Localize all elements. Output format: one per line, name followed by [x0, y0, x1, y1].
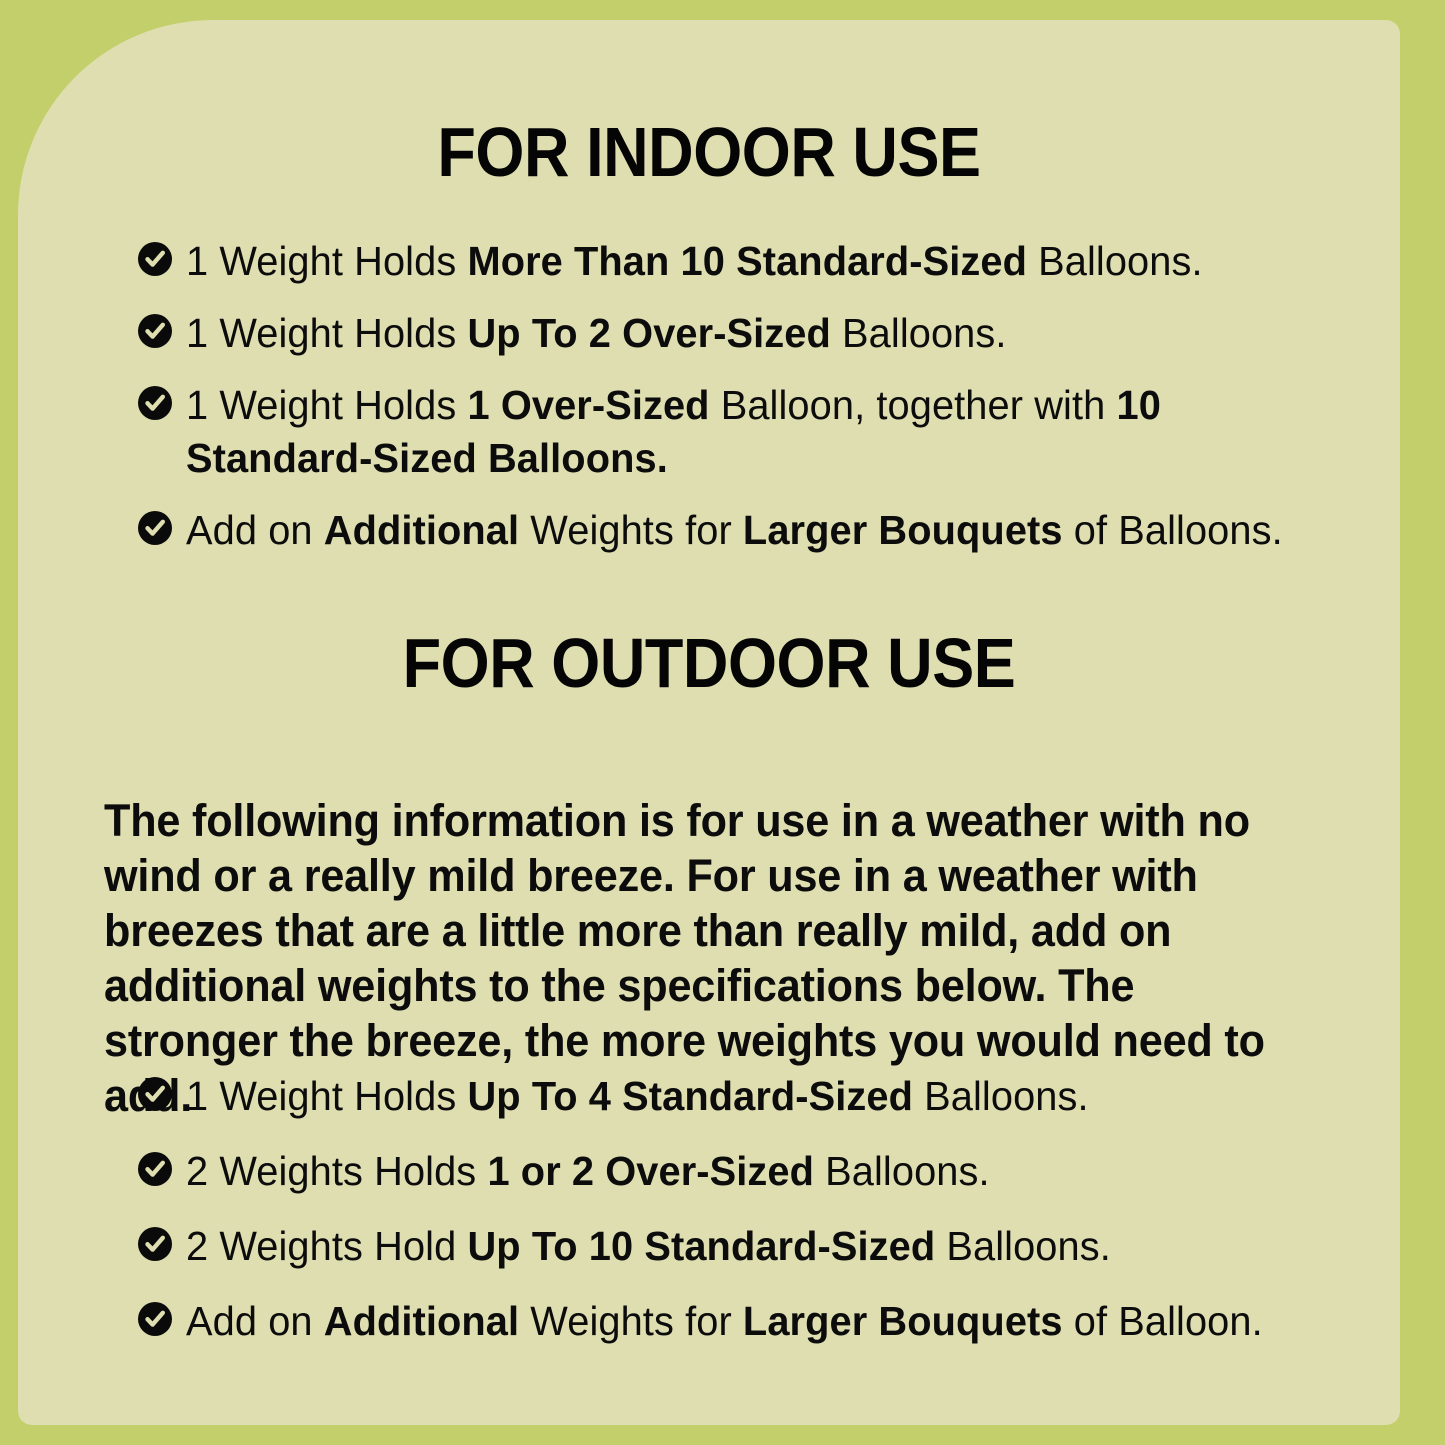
check-circle-icon: [138, 511, 172, 545]
outdoor-heading: FOR OUTDOOR USE: [87, 628, 1331, 698]
list-item-label: 2 Weights Holds 1 or 2 Over-Sized Balloo…: [186, 1145, 990, 1198]
list-item-label: 2 Weights Hold Up To 10 Standard-Sized B…: [186, 1220, 1111, 1273]
check-circle-icon: [138, 1227, 172, 1261]
check-circle-icon: [138, 1302, 172, 1336]
card-content: FOR INDOOR USE 1 Weight Holds More Than …: [18, 20, 1400, 1425]
check-circle-icon: [138, 1152, 172, 1186]
check-circle-icon: [138, 314, 172, 348]
indoor-bullet-list: 1 Weight Holds More Than 10 Standard-Siz…: [138, 235, 1388, 576]
list-item-label: Add on Additional Weights for Larger Bou…: [186, 1295, 1263, 1348]
list-item: 1 Weight Holds Up To 2 Over-Sized Balloo…: [138, 307, 1388, 360]
list-item: 1 Weight Holds More Than 10 Standard-Siz…: [138, 235, 1388, 288]
list-item-label: 1 Weight Holds 1 Over-Sized Balloon, tog…: [186, 379, 1352, 485]
check-circle-icon: [138, 386, 172, 420]
list-item: 1 Weight Holds Up To 4 Standard-Sized Ba…: [138, 1070, 1388, 1123]
list-item: Add on Additional Weights for Larger Bou…: [138, 1295, 1388, 1348]
list-item-label: 1 Weight Holds Up To 2 Over-Sized Balloo…: [186, 307, 1007, 360]
list-item: Add on Additional Weights for Larger Bou…: [138, 504, 1388, 557]
list-item: 2 Weights Hold Up To 10 Standard-Sized B…: [138, 1220, 1388, 1273]
list-item: 1 Weight Holds 1 Over-Sized Balloon, tog…: [138, 379, 1388, 485]
info-card: FOR INDOOR USE 1 Weight Holds More Than …: [18, 20, 1400, 1425]
check-circle-icon: [138, 1077, 172, 1111]
list-item-label: 1 Weight Holds Up To 4 Standard-Sized Ba…: [186, 1070, 1089, 1123]
check-circle-icon: [138, 242, 172, 276]
list-item: 2 Weights Holds 1 or 2 Over-Sized Balloo…: [138, 1145, 1388, 1198]
list-item-label: 1 Weight Holds More Than 10 Standard-Siz…: [186, 235, 1203, 288]
infographic-stage: FOR INDOOR USE 1 Weight Holds More Than …: [0, 0, 1445, 1445]
indoor-heading: FOR INDOOR USE: [87, 117, 1331, 187]
list-item-label: Add on Additional Weights for Larger Bou…: [186, 504, 1283, 557]
outdoor-bullet-list: 1 Weight Holds Up To 4 Standard-Sized Ba…: [138, 1070, 1388, 1370]
